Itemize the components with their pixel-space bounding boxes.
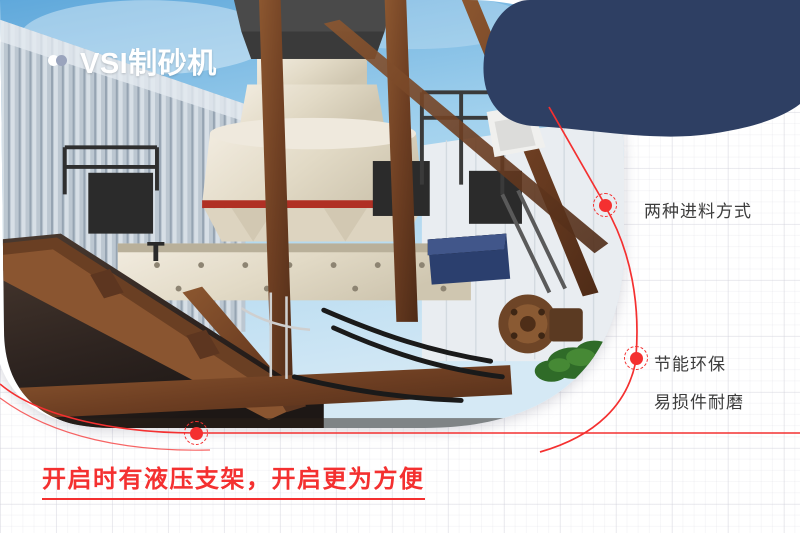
marker-dot-bottom <box>184 421 208 445</box>
marker-dot-feature-2 <box>624 346 648 370</box>
feature-label-1: 两种进料方式 <box>644 197 752 222</box>
feature-label-2: 节能环保 <box>654 350 726 375</box>
marker-dot-feature-1 <box>593 193 617 217</box>
bottom-caption: 开启时有液压支架，开启更为方便 <box>42 459 425 500</box>
promo-banner-page: T <box>0 0 800 533</box>
svg-text:T: T <box>147 238 165 268</box>
dual-circle-bullet-icon <box>48 55 70 66</box>
title-banner <box>470 0 800 160</box>
feature-label-3: 易损件耐磨 <box>654 388 744 413</box>
banner-shape <box>470 0 800 160</box>
page-title: VSI制砂机 <box>80 40 217 82</box>
